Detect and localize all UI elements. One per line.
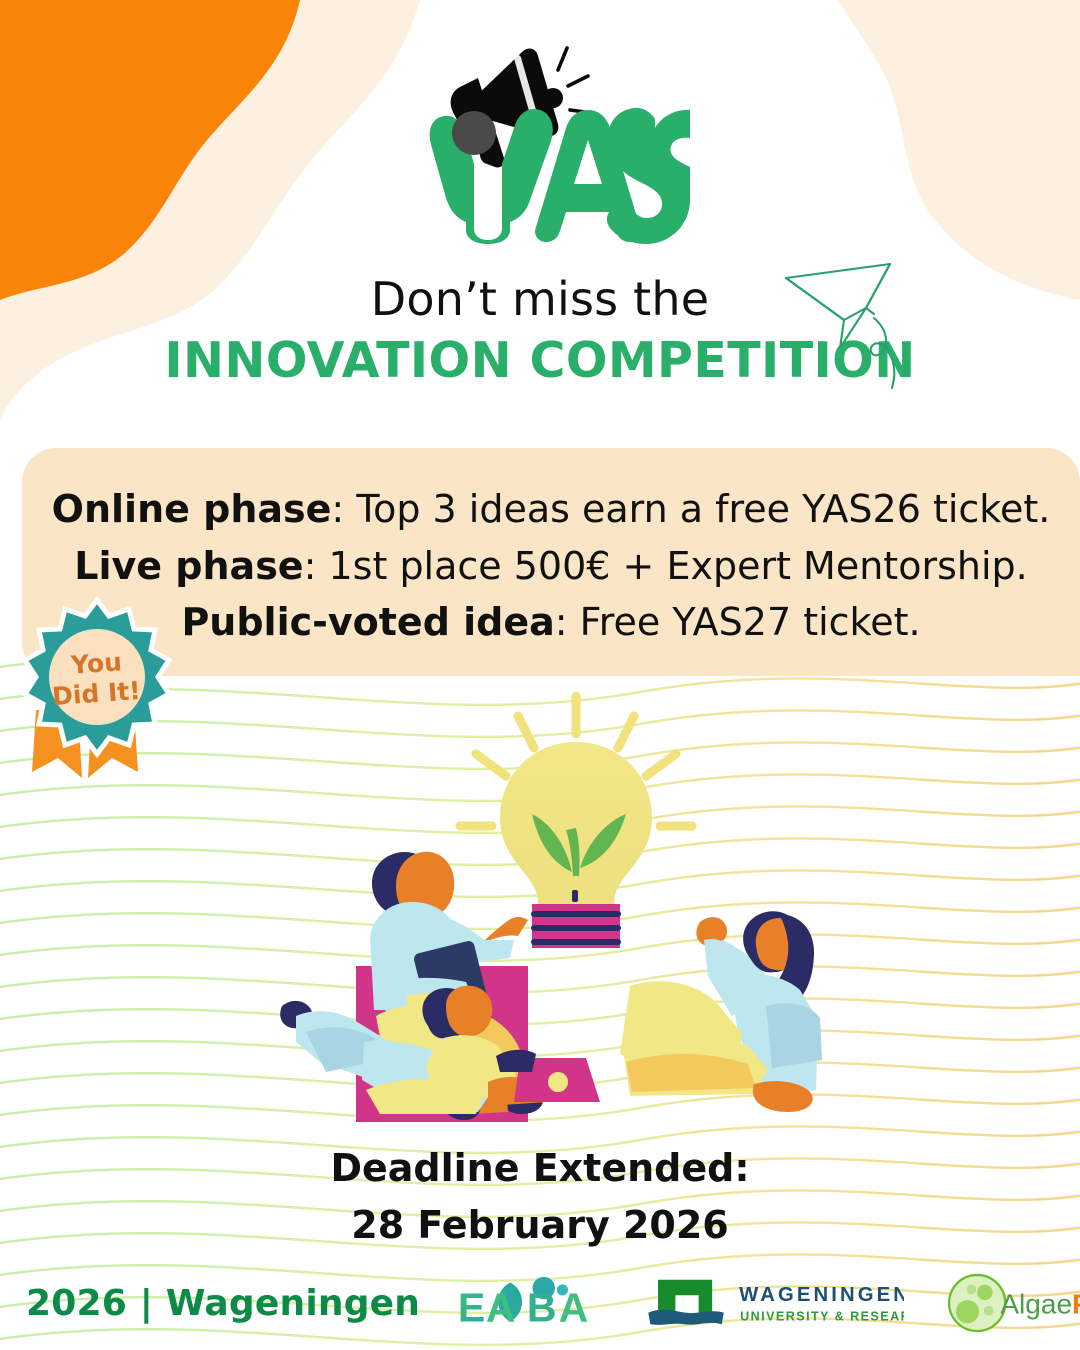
info-text-public: Free YAS27 ticket. [580, 600, 921, 644]
svg-text:A: A [486, 1285, 516, 1331]
award-rosette-icon: You Did It! [12, 592, 182, 787]
info-label-online: Online phase [52, 487, 332, 531]
info-sep-0: : [331, 487, 356, 531]
info-label-public: Public-voted idea [181, 600, 554, 644]
deadline-block: Deadline Extended: 28 February 2026 [0, 1140, 1080, 1254]
wur-name: WAGENINGEN [739, 1284, 904, 1306]
lightbulb-icon [500, 742, 652, 904]
footer-bar: 2026 | Wageningen E A B A [0, 1270, 1080, 1336]
svg-text:B: B [527, 1285, 557, 1331]
wageningen-logo[interactable]: WAGENINGEN UNIVERSITY & RESEARCH [644, 1274, 904, 1332]
deadline-date: 28 February 2026 [0, 1197, 1080, 1254]
poster-root: Don’t miss the INNOVATION COMPETITION On… [0, 0, 1080, 1350]
svg-text:A: A [559, 1285, 589, 1331]
info-line-live: Live phase: 1st place 500€ + Expert Ment… [74, 542, 1027, 591]
yas-logo [390, 18, 690, 248]
badge-text-line1: You [69, 647, 123, 680]
megaphone-sound-lines [558, 48, 592, 113]
person-lying-center [280, 986, 600, 1114]
info-text-online: Top 3 ideas earn a free YAS26 ticket. [356, 487, 1050, 531]
paper-plane-icon [778, 252, 928, 392]
badge-text-line2: Did It! [51, 676, 141, 711]
info-label-live: Live phase [74, 544, 303, 588]
parc-word: PARC [1072, 1289, 1080, 1320]
deadline-label: Deadline Extended: [0, 1140, 1080, 1197]
eaba-logo[interactable]: E A B A [456, 1275, 596, 1331]
algaeparc-logo[interactable]: Algae PARC ™ [946, 1273, 1080, 1333]
algae-word: Algae [1000, 1289, 1072, 1320]
lightbulb-base [532, 904, 620, 948]
info-sep-2: : [555, 600, 580, 644]
orange-blob-topleft [0, 0, 300, 300]
wur-mark [648, 1280, 723, 1325]
info-line-public: Public-voted idea: Free YAS27 ticket. [181, 598, 920, 647]
svg-text:E: E [458, 1285, 485, 1331]
footer-year-location: 2026 | Wageningen [26, 1283, 420, 1324]
info-line-online: Online phase: Top 3 ideas earn a free YA… [52, 485, 1051, 534]
algae-circle-mark [949, 1275, 1005, 1331]
people-ideas-lightbulb-illustration [270, 690, 830, 1160]
yas-person-head [452, 111, 496, 155]
info-text-live: 1st place 500€ + Expert Mentorship. [328, 544, 1027, 588]
info-sep-1: : [304, 544, 329, 588]
person-seated-right [620, 911, 822, 1112]
wur-subtitle: UNIVERSITY & RESEARCH [740, 1309, 904, 1323]
